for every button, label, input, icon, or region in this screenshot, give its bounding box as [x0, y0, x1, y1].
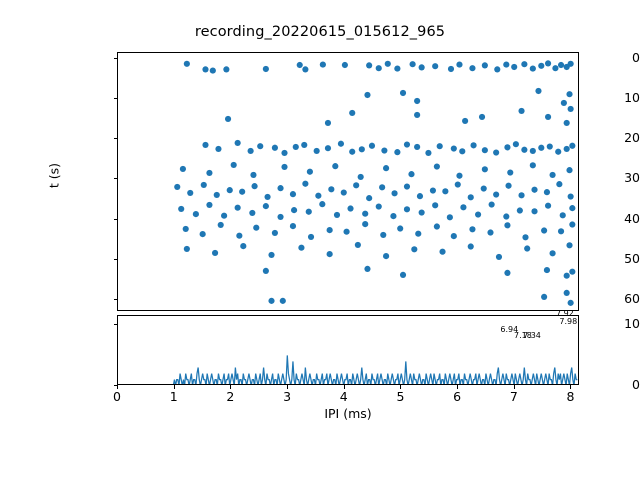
peak-annotation: 7.34 [523, 332, 541, 340]
x-tick-mark [117, 385, 118, 389]
x-tick-mark [457, 385, 458, 389]
scatter-y-tick-mark [114, 219, 118, 220]
scatter-y-tick-label: 0 [529, 50, 640, 65]
x-tick-label: 1 [159, 389, 189, 404]
scatter-y-tick-label: 60 [529, 291, 640, 306]
x-tick-mark [400, 385, 401, 389]
scatter-y-tick-mark [114, 259, 118, 260]
x-tick-label: 5 [385, 389, 415, 404]
matplotlib-figure: recording_20220615_015612_965 0102030405… [0, 0, 640, 480]
page-title: recording_20220615_015612_965 [0, 24, 640, 40]
scatter-y-tick-mark [114, 299, 118, 300]
histogram-y-tick-mark [114, 324, 118, 325]
x-tick-label: 7 [499, 389, 529, 404]
histogram-y-tick-label: 10 [529, 316, 640, 331]
x-tick-label: 6 [442, 389, 472, 404]
peak-annotation: 7.98 [559, 318, 577, 326]
scatter-y-tick-label: 20 [529, 130, 640, 145]
x-tick-label: 4 [329, 389, 359, 404]
scatter-y-tick-mark [114, 58, 118, 59]
x-axis-label: IPI (ms) [117, 406, 579, 421]
scatter-y-tick-mark [114, 178, 118, 179]
y-axis-label: t (s) [47, 116, 62, 236]
x-tick-label: 3 [272, 389, 302, 404]
scatter-y-tick-mark [114, 138, 118, 139]
x-tick-mark [514, 385, 515, 389]
x-tick-mark [230, 385, 231, 389]
x-tick-label: 8 [555, 389, 585, 404]
x-tick-mark [287, 385, 288, 389]
x-tick-mark [344, 385, 345, 389]
scatter-y-tick-label: 30 [529, 170, 640, 185]
scatter-y-tick-label: 50 [529, 251, 640, 266]
x-tick-mark [570, 385, 571, 389]
scatter-y-tick-mark [114, 98, 118, 99]
x-tick-mark [174, 385, 175, 389]
scatter-y-tick-label: 10 [529, 90, 640, 105]
scatter-points-layer [118, 53, 578, 311]
x-tick-label: 2 [215, 389, 245, 404]
scatter-y-tick-label: 40 [529, 211, 640, 226]
x-tick-label: 0 [102, 389, 132, 404]
scatter-plot-axes [117, 52, 579, 311]
